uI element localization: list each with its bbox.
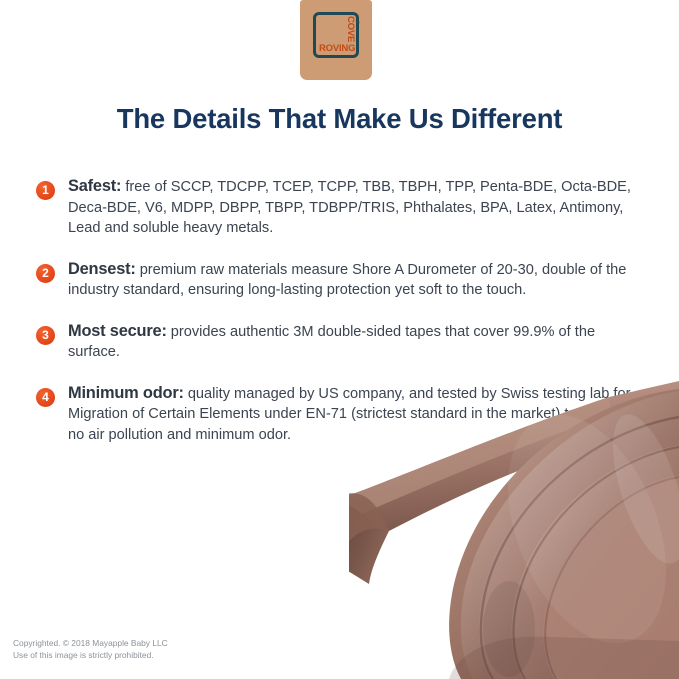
details-list: 1 Safest: free of SCCP, TDCPP, TCEP, TCP… [36,176,636,445]
bullet-number-icon: 4 [36,388,55,407]
bullet-number-icon: 1 [36,181,55,200]
copyright-line-1: Copyrighted. © 2018 Mayapple Baby LLC [13,638,168,650]
edge-guard-coil-inner [543,475,679,679]
page-title: The Details That Make Us Different [0,103,679,135]
logo-frame: ROVING COVE ™ [313,12,359,58]
list-item-lead: Most secure: [68,322,167,340]
list-item: 2 Densest: premium raw materials measure… [36,259,636,301]
list-item-lead: Safest: [68,177,121,195]
list-item-text: Safest: free of SCCP, TDCPP, TCEP, TCPP,… [68,176,636,239]
edge-guard-coil-ring3 [512,445,679,679]
trademark-icon: ™ [355,21,360,27]
copyright-line-2: Use of this image is strictly prohibited… [13,650,168,662]
list-item-body: premium raw materials measure Shore A Du… [68,262,626,299]
bullet-number-icon: 3 [36,326,55,345]
list-item: 3 Most secure: provides authentic 3M dou… [36,321,636,363]
logo-word-cove: COVE [345,16,356,42]
infographic-page: ROVING COVE ™ The Details That Make Us D… [0,0,679,679]
brand-logo: ROVING COVE ™ [300,0,372,80]
list-item-text: Minimum odor: quality managed by US comp… [68,383,636,446]
list-item-body: free of SCCP, TDCPP, TCEP, TCPP, TBB, TB… [68,179,631,236]
copyright-notice: Copyrighted. © 2018 Mayapple Baby LLC Us… [13,638,168,661]
list-item-text: Most secure: provides authentic 3M doubl… [68,321,636,363]
bullet-number-icon: 2 [36,264,55,283]
edge-guard-strip-end [349,497,389,584]
list-item: 1 Safest: free of SCCP, TDCPP, TCEP, TCP… [36,176,636,239]
list-item-lead: Minimum odor: [68,384,184,402]
edge-guard-coil-ring2 [479,415,679,679]
list-item-lead: Densest: [68,260,136,278]
list-item: 4 Minimum odor: quality managed by US co… [36,383,636,446]
list-item-text: Densest: premium raw materials measure S… [68,259,636,301]
logo-word-roving: ROVING [319,44,355,54]
